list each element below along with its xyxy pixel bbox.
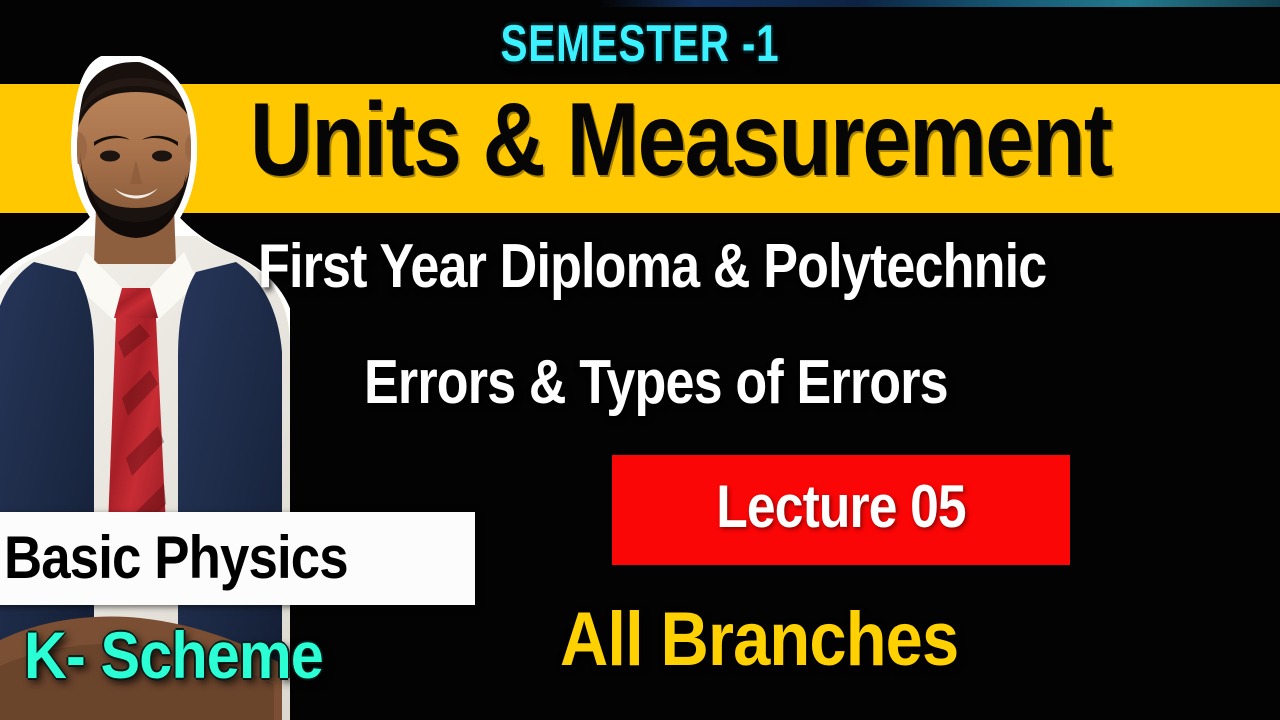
subject-badge-label: Basic Physics (4, 528, 348, 588)
course-subtitle: First Year Diploma & Polytechnic (258, 236, 1046, 298)
lecture-badge-label: Lecture 05 (644, 477, 1038, 537)
page-title: Units & Measurement (250, 88, 1111, 192)
branches-label: All Branches (560, 602, 958, 678)
topic-title: Errors & Types of Errors (364, 352, 948, 414)
top-accent-strip (600, 0, 1280, 7)
semester-label: SEMESTER -1 (141, 18, 1139, 70)
scheme-label: K- Scheme (24, 622, 323, 688)
lecture-badge: Lecture 05 (612, 455, 1070, 565)
thumbnail-canvas: SEMESTER -1 Units & Measurement First Ye… (0, 0, 1280, 720)
subject-badge: Basic Physics (0, 512, 475, 605)
